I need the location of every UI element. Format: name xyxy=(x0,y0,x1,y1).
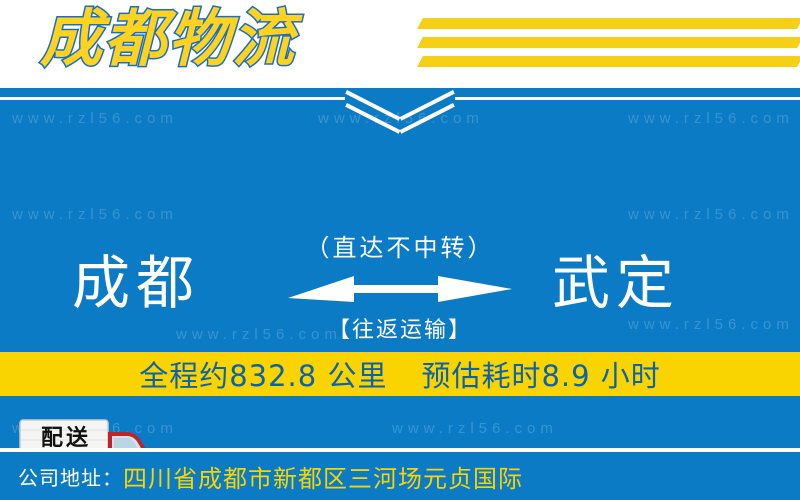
watermark: www.rzl56.com xyxy=(318,110,484,127)
distance-text: 全程约832.8 公里 xyxy=(139,353,387,395)
brand-title: 成都物流 xyxy=(40,4,296,76)
watermark: www.rzl56.com xyxy=(628,110,794,127)
stripe-2 xyxy=(417,37,800,48)
direct-service-note: （直达不中转） xyxy=(0,228,800,263)
watermark: www.rzl56.com xyxy=(628,206,794,223)
stripe-1 xyxy=(417,18,800,29)
duration-text: 预估耗时8.9 小时 xyxy=(421,353,660,395)
watermark: www.rzl56.com xyxy=(392,420,558,437)
stripe-3 xyxy=(417,56,800,67)
address-value: 四川省成都市新都区三河场元贞国际 xyxy=(123,459,523,494)
delivery-truck-icon: 配送 区域 xyxy=(8,418,158,448)
poster-header: 成都物流 xyxy=(0,0,800,88)
logistics-poster: 成都物流 www.rzl56.com www.rzl56.com www.rzl… xyxy=(0,0,800,500)
company-address-bar: 公司地址： 四川省成都市新都区三河场元贞国际 xyxy=(0,452,800,500)
round-trip-note: 【往返运输】 xyxy=(0,312,800,344)
header-stripes-decoration xyxy=(420,14,800,76)
distance-duration-bar: 全程约832.8 公里 预估耗时8.9 小时 xyxy=(0,352,800,396)
watermark: www.rzl56.com xyxy=(12,206,178,223)
bidirectional-arrow-icon xyxy=(288,272,512,306)
watermark: www.rzl56.com xyxy=(12,110,178,127)
poster-body: www.rzl56.com www.rzl56.com www.rzl56.co… xyxy=(0,88,800,448)
address-label: 公司地址： xyxy=(18,462,123,491)
